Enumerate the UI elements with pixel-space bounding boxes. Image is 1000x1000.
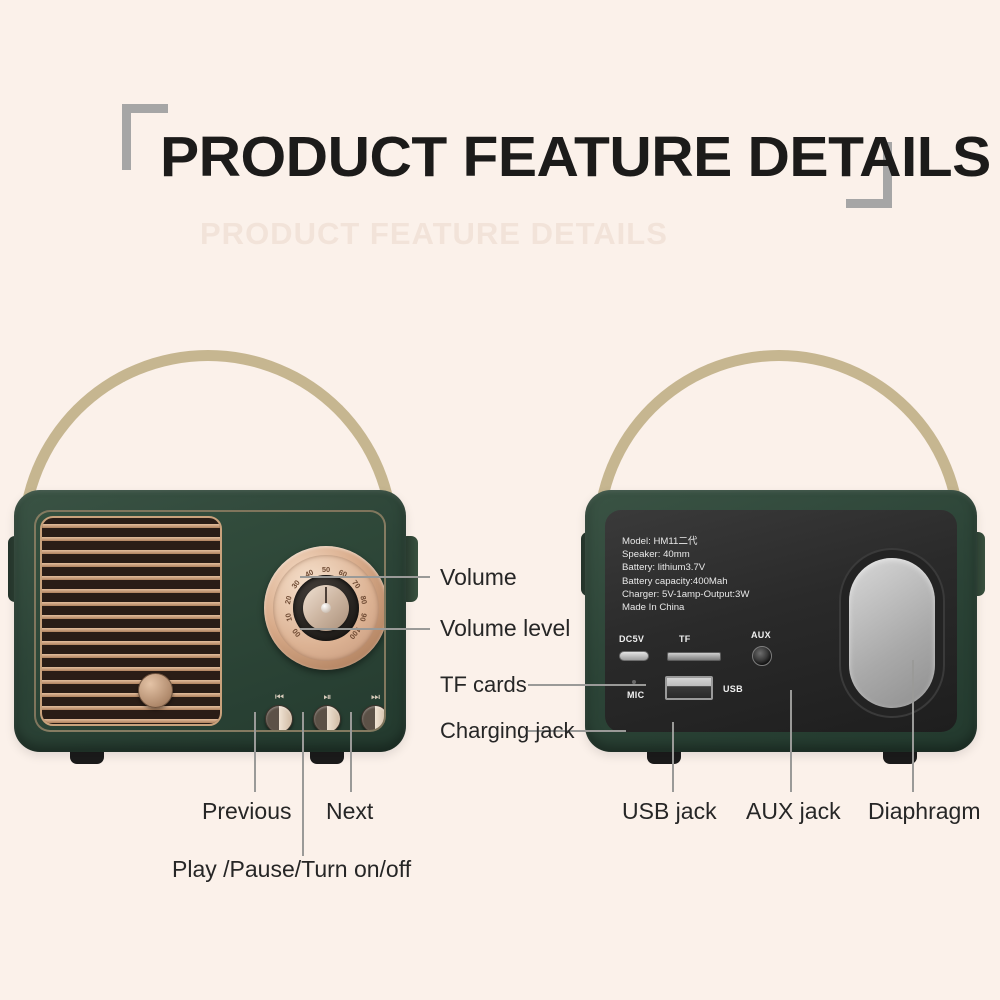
callout-play-pause: Play /Pause/Turn on/off — [172, 856, 411, 883]
front-face-plate: 00102030405060708090100 ⏮ ⏯ — [34, 510, 386, 732]
next-knob[interactable] — [361, 705, 386, 732]
infographic-canvas: PRODUCT FEATURE DETAILS PRODUCT FEATURE … — [0, 0, 1000, 1000]
previous-button[interactable]: ⏮ — [262, 692, 296, 732]
dial-tick-50: 50 — [321, 565, 332, 574]
callout-charging-jack: Charging jack — [440, 718, 575, 744]
control-knob-row: ⏮ ⏯ ⏭ — [262, 692, 386, 732]
dc-charging-port[interactable] — [619, 651, 649, 661]
lead-diaphragm — [912, 660, 914, 792]
lead-usb-jack — [672, 722, 674, 792]
callout-tf-cards: TF cards — [440, 672, 527, 698]
back-panel: Model: HM11二代 Speaker: 40mm Battery: lit… — [605, 510, 957, 732]
volume-dial-cap[interactable] — [303, 585, 349, 631]
title-watermark: PRODUCT FEATURE DETAILS — [200, 216, 720, 258]
aux-port-label: AUX — [751, 630, 771, 640]
play-pause-icon: ⏯ — [310, 692, 344, 703]
lead-tf-cards — [528, 684, 646, 686]
front-speaker-unit: 00102030405060708090100 ⏮ ⏯ — [0, 350, 430, 780]
mic-port-label: MIC — [627, 690, 644, 700]
back-speaker-unit: Model: HM11二代 Speaker: 40mm Battery: lit… — [575, 350, 1000, 780]
spec-line-speaker: Speaker: 40mm — [622, 548, 749, 561]
dial-tick-90: 90 — [358, 611, 369, 624]
next-button[interactable]: ⏭ — [358, 692, 386, 732]
volume-dial[interactable]: 00102030405060708090100 — [264, 546, 386, 670]
dial-tick-80: 80 — [358, 594, 369, 607]
previous-icon: ⏮ — [262, 692, 296, 703]
usb-port[interactable] — [665, 676, 713, 700]
grille-knob[interactable] — [138, 673, 173, 708]
spec-line-battery: Battery: lithium3.7V — [622, 561, 749, 574]
lead-aux-jack — [790, 690, 792, 792]
next-icon: ⏭ — [358, 692, 386, 703]
back-body-shell: Model: HM11二代 Speaker: 40mm Battery: lit… — [585, 490, 977, 752]
passive-diaphragm — [849, 558, 935, 708]
spec-line-origin: Made In China — [622, 601, 749, 614]
spec-line-charger: Charger: 5V-1amp-Output:3W — [622, 588, 749, 601]
lead-next — [350, 712, 352, 792]
dc-port-label: DC5V — [619, 634, 644, 644]
lead-play-pause — [302, 712, 304, 856]
lead-volume — [300, 576, 430, 578]
page-title: PRODUCT FEATURE DETAILS — [160, 124, 902, 190]
callout-aux-jack: AUX jack — [746, 798, 841, 825]
callout-usb-jack: USB jack — [622, 798, 717, 825]
callout-volume: Volume — [440, 564, 517, 591]
callout-volume-level: Volume level — [440, 615, 570, 642]
play-pause-knob[interactable] — [313, 705, 341, 732]
lead-previous — [254, 712, 256, 792]
front-body-shell: 00102030405060708090100 ⏮ ⏯ — [14, 490, 406, 752]
usb-port-label: USB — [723, 684, 743, 694]
speaker-grille — [40, 516, 222, 726]
callout-diaphragm: Diaphragm — [868, 798, 981, 825]
spec-line-capacity: Battery capacity:400Mah — [622, 575, 749, 588]
spec-line-model: Model: HM11二代 — [622, 535, 749, 548]
tf-card-slot[interactable] — [667, 652, 721, 661]
play-pause-button[interactable]: ⏯ — [310, 692, 344, 732]
callout-next: Next — [326, 798, 373, 825]
tf-port-label: TF — [679, 634, 691, 644]
aux-port[interactable] — [752, 646, 772, 666]
volume-dial-hub — [321, 603, 331, 613]
previous-knob[interactable] — [265, 705, 293, 732]
spec-label-block: Model: HM11二代 Speaker: 40mm Battery: lit… — [622, 535, 749, 614]
lead-volume-level — [300, 628, 430, 630]
callout-previous: Previous — [202, 798, 291, 825]
